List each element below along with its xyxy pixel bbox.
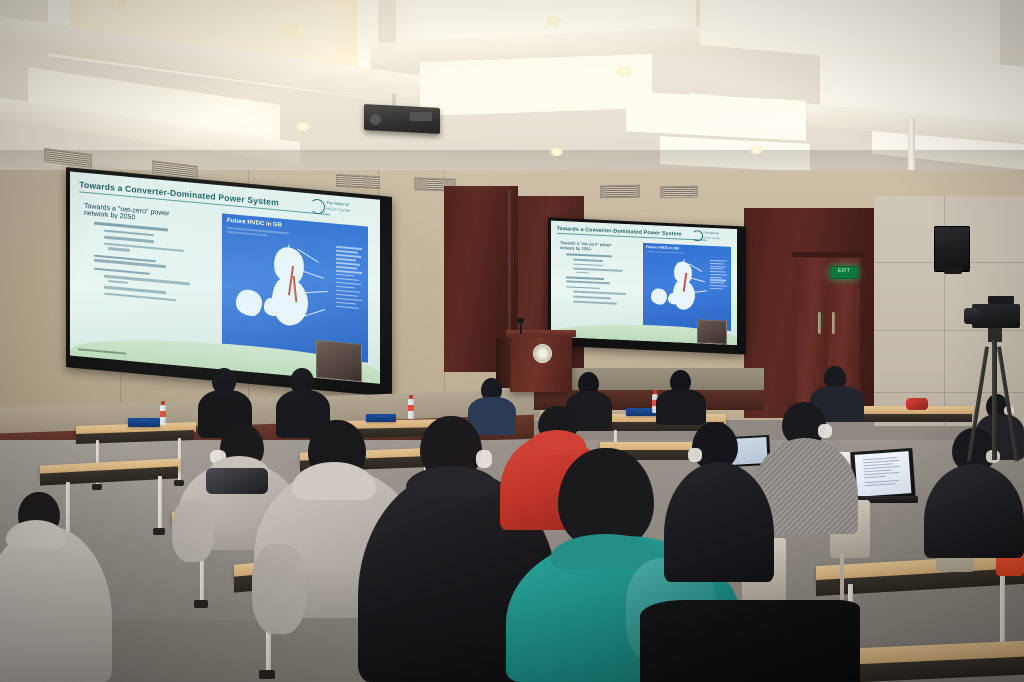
projection-screen-left-frame: Towards a Converter-Dominated Power Syst… (66, 167, 392, 397)
laptop-doc-line (864, 476, 886, 479)
legend-row (336, 286, 355, 289)
name-card-1: ········ (128, 418, 160, 427)
legend-row (336, 278, 359, 282)
map-legend-right (710, 260, 728, 290)
podium-top-surface (506, 330, 576, 337)
door-handle-right[interactable] (832, 312, 835, 334)
exit-sign: EXIT (830, 266, 858, 279)
legend-row (710, 271, 725, 273)
desk-row-a-farright-front (854, 414, 972, 422)
person-torso (656, 389, 706, 425)
projector-vent-left (410, 112, 432, 121)
name-card-1-text: ········ (128, 418, 160, 423)
legend-row (336, 262, 360, 266)
legend-row (710, 288, 723, 290)
downlight-2 (282, 24, 300, 36)
hvdc-logo-line2: HVDC Centre (326, 206, 350, 213)
slide-left-subbullet-2 (104, 229, 154, 236)
slide-left-logo: The National HVDC Centre (310, 197, 376, 219)
slide-left: Towards a Converter-Dominated Power Syst… (70, 172, 380, 384)
slide-left-bullets: Towards a "net-zero" power network by 20… (84, 203, 214, 305)
uk-map-ireland (236, 289, 262, 317)
hvdc-link-3 (689, 277, 705, 282)
laptop-doc-line (865, 483, 896, 486)
person-arm (252, 544, 306, 634)
camera-lens (964, 308, 978, 324)
hvdc-link-4 (300, 291, 328, 293)
slide-right: Towards a Converter-Dominated Power Syst… (551, 221, 737, 345)
air-vent-3 (336, 174, 380, 189)
legend-row (336, 282, 361, 286)
legend-row (710, 277, 722, 279)
camera-lens-hood (988, 296, 1014, 304)
foreground-dark-mass (640, 600, 860, 682)
projection-screen-right-face: Towards a Converter-Dominated Power Syst… (551, 221, 737, 345)
person-shoulders (664, 462, 774, 582)
legend-row (336, 266, 357, 270)
wall-speaker-bracket (944, 268, 962, 274)
downlight-7 (546, 16, 562, 26)
ceiling-coffer-mid-right (626, 91, 806, 140)
uk-map-wales (668, 293, 678, 304)
slide-left-subbullet-3 (104, 236, 154, 243)
desk-caster (153, 528, 165, 535)
laptop-right-display[interactable] (855, 451, 912, 497)
webcam-pip-right (697, 319, 727, 344)
hvdc-logo-ring-icon (310, 198, 325, 214)
wall-speaker (934, 226, 970, 272)
red-bag-on-desk (906, 398, 928, 410)
microphone-stand (520, 322, 522, 334)
slide-right-subbullet-2 (573, 258, 603, 261)
legend-row (710, 263, 724, 265)
tripod-leg (967, 346, 989, 461)
water-bottle-1-label (160, 411, 166, 417)
uk-map-ireland (651, 288, 667, 305)
slide-right-subbullet-9 (573, 301, 617, 305)
legend-row (336, 254, 361, 258)
legend-row (336, 302, 356, 305)
legend-row (710, 268, 723, 270)
slide-left-subbullet-6 (94, 267, 150, 275)
slide-right-subbullet-6 (566, 286, 600, 289)
map-title-right: Future HVDC in GB (646, 245, 679, 250)
slide-right-subbullet-7 (573, 291, 626, 295)
microphone-head (517, 318, 524, 323)
slide-right-subbullet-8 (573, 296, 611, 300)
legend-row (710, 282, 724, 284)
desk-leg (158, 476, 162, 532)
projection-screen-right-frame: Towards a Converter-Dominated Power Syst… (548, 218, 746, 355)
projector-pole-right (908, 118, 915, 176)
video-camera-on-tripod (962, 296, 1024, 486)
chair-leg (840, 554, 844, 602)
person-black-coat-right (664, 422, 774, 582)
face-mask (818, 424, 832, 438)
podium-emblem (533, 344, 552, 363)
legend-row (710, 274, 727, 276)
legend-row (710, 265, 726, 267)
jacket-collar (406, 466, 498, 496)
downlight-5 (550, 148, 563, 156)
slide-left-subbullet-7 (104, 275, 190, 285)
slide-right-subbullet-3 (573, 263, 603, 266)
legend-row (710, 279, 726, 281)
ceiling-coffer-center (420, 54, 652, 116)
map-subtitle-right (646, 251, 684, 254)
laptop-doc-line (863, 460, 899, 464)
desk-caster (194, 600, 208, 608)
face-mask (476, 450, 492, 468)
water-bottle-2-cap (409, 395, 413, 399)
legend-row (336, 294, 358, 298)
slide-right-bullets: Towards a "net-zero" power network by 20… (560, 240, 640, 305)
legend-row (336, 250, 358, 254)
person-shoulders (0, 526, 112, 682)
legend-row (336, 258, 356, 261)
exit-sign-label: EXIT (831, 267, 857, 276)
face-mask (688, 448, 702, 462)
downlight-4 (296, 122, 310, 131)
legend-row (710, 260, 727, 262)
door-handle-left[interactable] (818, 312, 821, 334)
lecture-hall-screenshot: EXIT Towards a Converter-Dominated Power… (0, 0, 1024, 682)
slide-right-map-panel: Future HVDC in GB (643, 243, 731, 331)
legend-row (336, 306, 359, 310)
tripod-leg (992, 340, 997, 460)
slide-right-logo: The National HVDC Centre (692, 230, 734, 242)
person-arm (172, 500, 214, 562)
water-bottle-1-cap (161, 401, 165, 405)
slide-left-subbullet-4b (108, 247, 130, 252)
projector-mount-left (392, 94, 396, 106)
legend-row (336, 290, 360, 294)
laptop-doc-line (864, 472, 899, 475)
slide-right-subbullet-1 (566, 253, 612, 257)
slide-right-subbullet-5b (566, 280, 610, 284)
projector-lens-left (370, 114, 381, 125)
hvdc-logo-line2: HVDC Centre (703, 235, 720, 240)
door-frame-top (792, 252, 864, 257)
podium (510, 334, 572, 392)
legend-row (336, 274, 354, 277)
slide-right-subbullet-4b (576, 271, 589, 273)
laptop-doc-line (864, 466, 900, 470)
hvdc-logo-ring-icon (692, 230, 703, 241)
slide-left-subbullet-7b (108, 279, 128, 283)
tripod-leg (997, 346, 1019, 461)
desk-caster (92, 484, 102, 490)
person-back-black (656, 370, 706, 424)
legend-row (710, 285, 727, 287)
map-legend-left (336, 246, 364, 310)
downlight-3 (616, 66, 632, 77)
uk-map-wales (264, 297, 280, 316)
air-vent-5 (600, 185, 640, 199)
air-vent-6 (660, 186, 698, 199)
downlight-6 (750, 146, 763, 154)
camera-body (972, 304, 1020, 328)
person-light-hoodie (0, 492, 112, 682)
slide-left-map-panel: Future HVDC in GB (222, 213, 368, 362)
water-bottle-2-label (408, 405, 414, 411)
projection-screen-left-face: Towards a Converter-Dominated Power Syst… (70, 172, 380, 384)
